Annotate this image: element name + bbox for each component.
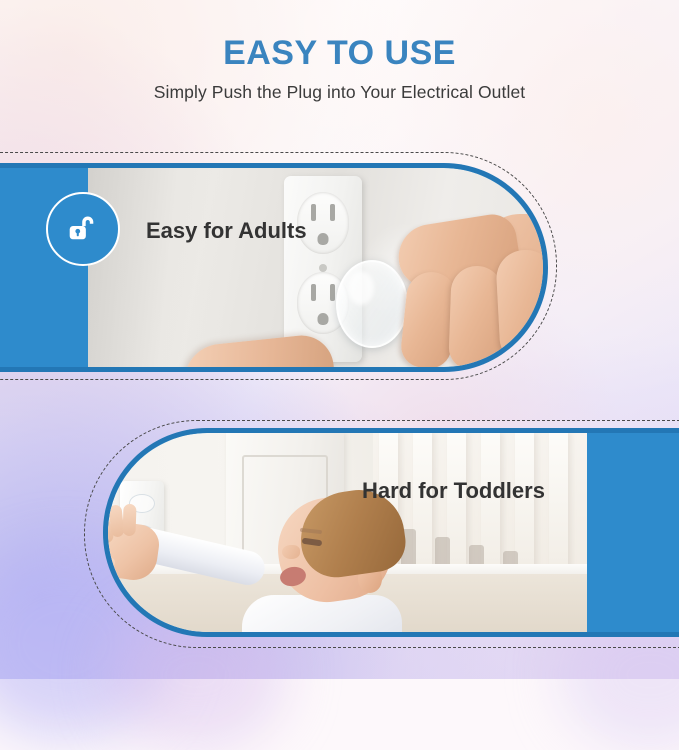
socket-slot (311, 204, 316, 221)
socket-slot (330, 284, 335, 301)
socket-slot (330, 204, 335, 221)
cover-highlight (348, 271, 374, 305)
page-subtitle: Simply Push the Plug into Your Electrica… (0, 82, 679, 103)
header: EASY TO USE Simply Push the Plug into Yo… (0, 34, 679, 103)
panel-caption: Easy for Adults (146, 218, 307, 244)
hand-finger (448, 265, 504, 367)
wall-shadow (88, 168, 220, 367)
unlock-icon-badge (46, 192, 120, 266)
socket-ground-hole (318, 313, 329, 325)
panel-body (103, 428, 679, 637)
hand-finger (495, 249, 543, 364)
page-title: EASY TO USE (0, 34, 679, 73)
unlock-icon (64, 210, 102, 248)
socket-ground-hole (318, 233, 329, 245)
photo-adult-installing-cover (88, 168, 543, 367)
toddler-finger (122, 504, 136, 536)
toddler (182, 491, 432, 632)
panel-caption: Hard for Toddlers (362, 478, 545, 504)
photo-toddler-reaching-outlet (108, 433, 587, 632)
faceplate-screw (319, 264, 327, 272)
toddler-nose (282, 545, 300, 559)
socket-slot (311, 284, 316, 301)
adult-hand (388, 214, 543, 367)
